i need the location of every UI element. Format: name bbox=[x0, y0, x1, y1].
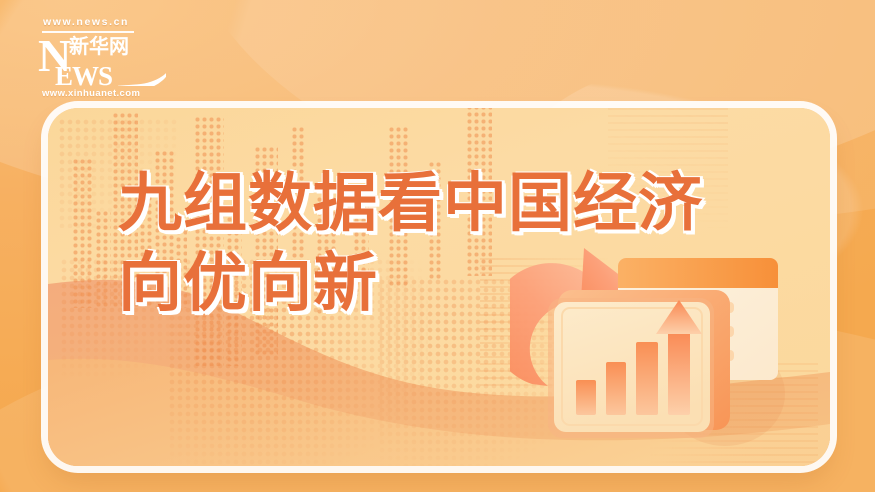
headline-line-2: 向优向新 bbox=[118, 244, 808, 324]
logo-swoosh-icon bbox=[118, 60, 166, 86]
headline-line-1: 九组数据看中国经济 bbox=[118, 167, 703, 241]
chart-bar-2 bbox=[606, 362, 626, 415]
page-title: 九组数据看中国经济 向优向新 bbox=[118, 164, 808, 324]
logo-url-bottom: www.xinhuanet.com bbox=[42, 88, 140, 99]
logo-word-ews: EWS bbox=[55, 63, 112, 90]
chart-bar-3 bbox=[636, 342, 658, 415]
content-card: 九组数据看中国经济 向优向新 bbox=[48, 108, 830, 466]
xinhua-news-logo[interactable]: www.news.cn N 新华网 EWS www.xinhuanet.com bbox=[33, 16, 168, 98]
chart-bar-1 bbox=[576, 380, 596, 415]
logo-brand-cn: 新华网 bbox=[69, 37, 129, 57]
logo-url-top: www.news.cn bbox=[43, 16, 129, 28]
banner-canvas: www.news.cn N 新华网 EWS www.xinhuanet.com bbox=[0, 0, 875, 492]
